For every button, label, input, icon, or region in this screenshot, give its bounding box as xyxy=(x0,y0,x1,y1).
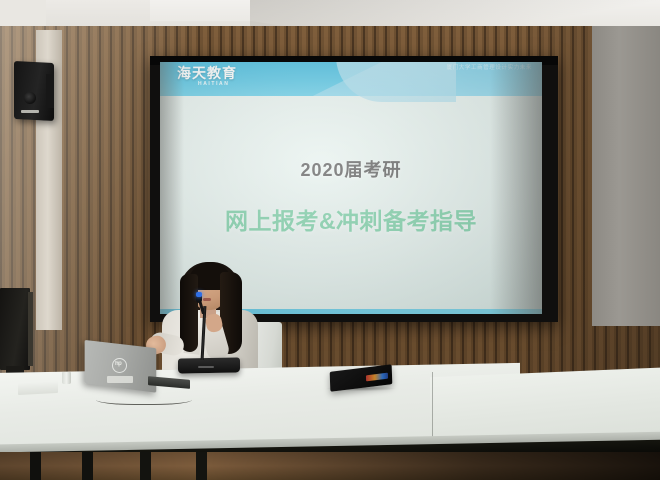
speaker-port-icon xyxy=(21,110,39,113)
slide-title: 2020届考研 xyxy=(160,156,542,182)
brand-logo: 海天教育 xyxy=(177,66,237,80)
wall-monitor xyxy=(0,288,30,370)
laptop-sticker xyxy=(107,376,133,383)
speaker-bracket-icon xyxy=(46,74,54,108)
cup-on-table xyxy=(62,372,71,384)
microphone-led-icon xyxy=(196,292,202,297)
speaker-cone-icon xyxy=(24,92,36,104)
floor-shading xyxy=(0,452,660,480)
hp-logo-text: hp xyxy=(115,361,121,367)
brand-logo-subtext: HAITIAN xyxy=(198,81,229,87)
monitor-edge xyxy=(28,292,33,366)
slide-header-band: 海天教育 HAITIAN 厦门大学工商管理设计实力未来 xyxy=(160,62,542,96)
projection-falloff-right xyxy=(490,62,542,314)
presenter-mouth xyxy=(203,298,211,301)
conference-room-scene: 海天教育 HAITIAN 厦门大学工商管理设计实力未来 2020届考研 网上报考… xyxy=(0,0,660,480)
papers-on-table xyxy=(18,381,58,395)
laptop-cable xyxy=(96,392,192,405)
slide-subtitle: 网上报考&冲刺备考指导 xyxy=(160,202,542,236)
wall-right-panel xyxy=(592,26,660,326)
microphone-base-panel xyxy=(198,366,214,368)
presenter xyxy=(146,258,274,374)
